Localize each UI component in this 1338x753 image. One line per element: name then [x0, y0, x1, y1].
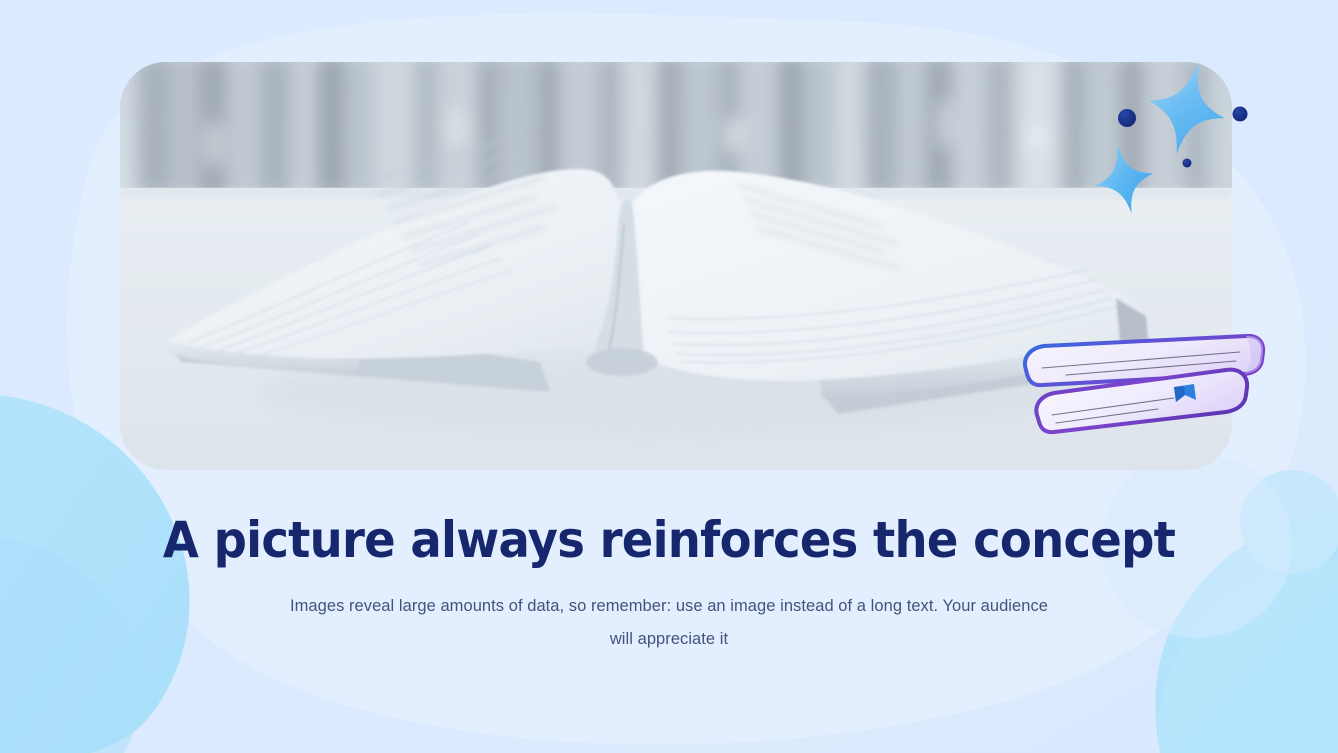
page-subtitle: Images reveal large amounts of data, so … — [289, 590, 1049, 656]
image-panel — [120, 62, 1232, 470]
navy-dot-large — [1233, 107, 1248, 122]
book-photograph — [120, 62, 1232, 470]
slide-canvas: A picture always reinforces the concept … — [0, 0, 1338, 753]
page-title: A picture always reinforces the concept — [47, 512, 1291, 568]
text-block: A picture always reinforces the concept … — [0, 512, 1338, 656]
